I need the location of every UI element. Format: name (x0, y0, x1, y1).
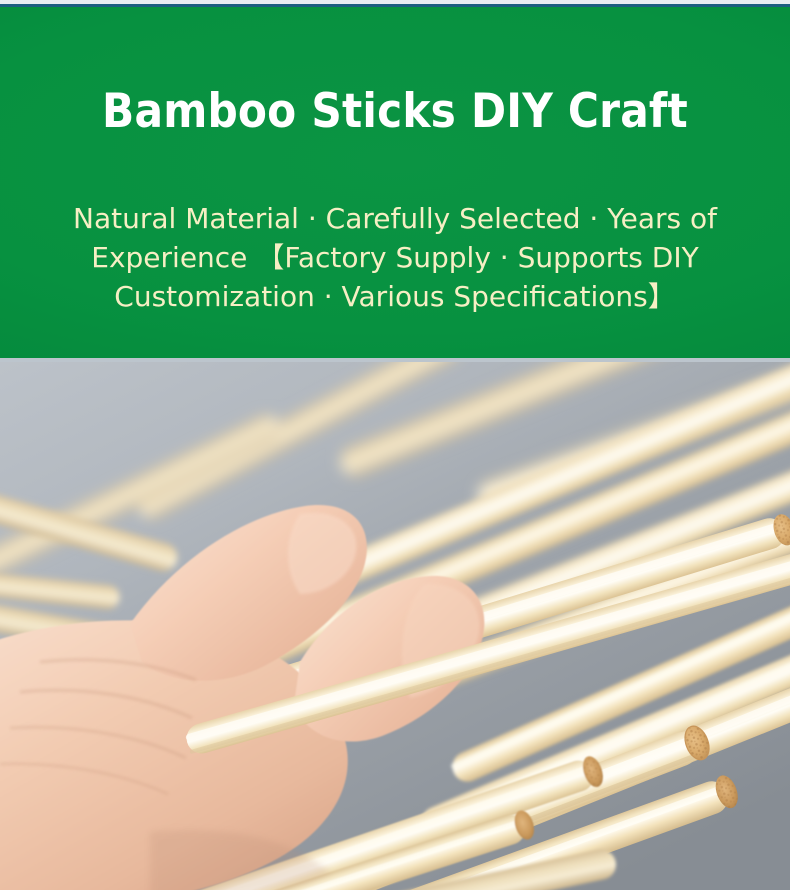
page-title: Bamboo Sticks DIY Craft (0, 87, 790, 138)
subtitle-line-2: Experience 【Factory Supply · Supports DI… (58, 238, 732, 277)
green-banner: Bamboo Sticks DIY Craft Natural Material… (0, 7, 790, 358)
bamboo-sticks-photo-illustration (0, 362, 790, 890)
product-banner-page: Bamboo Sticks DIY Craft Natural Material… (0, 0, 790, 890)
subtitle-line-3: Customization · Various Specifications】 (58, 277, 732, 316)
subtitle-line-1: Natural Material · Carefully Selected · … (58, 199, 732, 238)
product-photo (0, 362, 790, 890)
banner-subtitle: Natural Material · Carefully Selected · … (58, 199, 732, 316)
